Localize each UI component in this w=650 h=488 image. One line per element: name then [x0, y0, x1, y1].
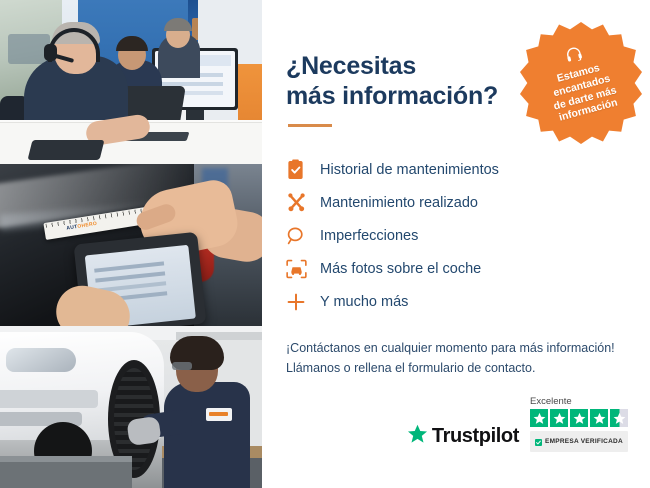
headline-line-2: más información?	[286, 82, 498, 110]
rating-star-3	[570, 409, 588, 427]
clipboard-check-icon	[286, 159, 316, 180]
car-scan-icon	[286, 259, 316, 279]
verified-check-icon	[535, 433, 542, 451]
feature-item-imperfections: Imperfecciones	[286, 219, 628, 252]
feature-label: Imperfecciones	[320, 228, 418, 244]
feature-label: Mantenimiento realizado	[320, 195, 478, 211]
promo-banner: AUTOHERO ¿Necesitas más información?	[0, 0, 650, 488]
rating-star-5-half	[610, 409, 628, 427]
contact-line-2: Llámanos o rellena el formulario de cont…	[286, 358, 628, 378]
trustpilot-widget[interactable]: Trustpilot Excelente	[407, 396, 628, 452]
feature-label: Más fotos sobre el coche	[320, 261, 481, 277]
feature-label: Y mucho más	[320, 294, 408, 310]
plus-icon	[286, 292, 316, 312]
verified-company-badge: EMPRESA VERIFICADA	[530, 431, 628, 452]
trustpilot-wordmark: Trustpilot	[432, 425, 519, 448]
feature-label: Historial de mantenimientos	[320, 162, 499, 178]
contact-text: ¡Contáctanos en cualquier momento para m…	[286, 338, 628, 379]
feature-item-maintenance-history: Historial de mantenimientos	[286, 153, 628, 186]
contact-line-1: ¡Contáctanos en cualquier momento para m…	[286, 338, 628, 358]
rating-star-4	[590, 409, 608, 427]
rating-star-2	[550, 409, 568, 427]
trustpilot-star-rating	[530, 409, 628, 427]
magnifier-icon	[286, 226, 316, 246]
feature-item-much-more: Y mucho más	[286, 285, 628, 318]
promo-badge: Estamos encantados de darte más informac…	[520, 22, 642, 144]
photo-tyre-inspection	[0, 326, 262, 488]
photo-column: AUTOHERO	[0, 0, 262, 488]
feature-item-maintenance-done: Mantenimiento realizado	[286, 186, 628, 219]
feature-item-more-photos: Más fotos sobre el coche	[286, 252, 628, 285]
rating-star-1	[530, 409, 548, 427]
trustpilot-star-icon	[407, 424, 428, 449]
title-underline-accent	[288, 124, 332, 127]
feature-list: Historial de mantenimientos Mantenimient…	[286, 153, 628, 318]
tools-icon	[286, 192, 316, 213]
headline-line-1: ¿Necesitas	[286, 52, 416, 80]
trustpilot-logo: Trustpilot	[407, 424, 519, 452]
photo-body-inspection: AUTOHERO	[0, 164, 262, 326]
trustpilot-rating-label: Excelente	[530, 396, 572, 407]
verified-label: EMPRESA VERIFICADA	[545, 438, 623, 445]
content-panel: ¿Necesitas más información? Estamos en	[262, 0, 650, 488]
photo-call-center	[0, 0, 262, 164]
